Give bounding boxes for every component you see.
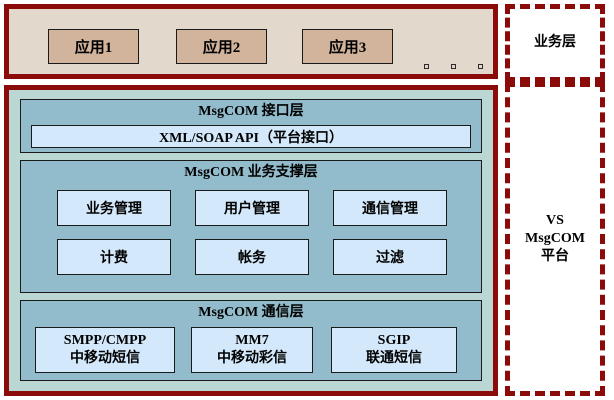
msgcom-business-support-layer: MsgCOM 业务支撑层 业务管理 用户管理 通信管理 计费 帐务 过滤: [20, 160, 482, 293]
comm-box-smpp-cmpp[interactable]: SMPP/CMPP 中移动短信: [35, 327, 175, 373]
comm-box-smpp-cmpp-description: 中移动短信: [70, 350, 140, 368]
application-box-1[interactable]: 应用1: [48, 29, 139, 64]
comm-box-smpp-cmpp-protocol: SMPP/CMPP: [64, 332, 146, 350]
ellipsis-dot-2: [451, 64, 456, 69]
support-box-business-management[interactable]: 业务管理: [57, 190, 171, 226]
platform-annotation-line-1: VS: [525, 212, 585, 230]
msgcom-communication-layer-title: MsgCOM 通信层: [21, 301, 481, 323]
support-box-filtering[interactable]: 过滤: [333, 239, 447, 275]
business-layer-annotation-label: 业务层: [534, 34, 576, 52]
msgcom-interface-layer: MsgCOM 接口层 XML/SOAP API（平台接口）: [20, 99, 482, 153]
ellipsis-dot-1: [424, 64, 429, 69]
application-box-1-label: 应用1: [75, 36, 113, 57]
support-box-user-management-label: 用户管理: [224, 198, 280, 218]
comm-box-sgip[interactable]: SGIP 联通短信: [331, 327, 457, 373]
support-box-billing[interactable]: 计费: [57, 239, 171, 275]
xml-soap-api-label: XML/SOAP API（平台接口）: [159, 127, 343, 147]
platform-annotation-box: VS MsgCOM 平台: [505, 82, 605, 396]
platform-annotation-line-2: MsgCOM: [525, 230, 585, 248]
support-box-filtering-label: 过滤: [376, 247, 404, 267]
comm-box-sgip-description: 联通短信: [366, 350, 422, 368]
support-box-communication-management[interactable]: 通信管理: [333, 190, 447, 226]
comm-box-mm7-protocol: MM7: [235, 332, 268, 350]
support-box-user-management[interactable]: 用户管理: [195, 190, 309, 226]
comm-box-mm7-description: 中移动彩信: [217, 350, 287, 368]
business-layer-section: 应用1 应用2 应用3: [4, 4, 498, 79]
ellipsis-dot-3: [478, 64, 483, 69]
application-box-3[interactable]: 应用3: [302, 29, 393, 64]
xml-soap-api-box[interactable]: XML/SOAP API（平台接口）: [31, 125, 471, 148]
msgcom-business-support-layer-title: MsgCOM 业务支撑层: [21, 161, 481, 183]
comm-box-sgip-protocol: SGIP: [378, 332, 411, 350]
platform-annotation-label: VS MsgCOM 平台: [525, 212, 585, 266]
support-box-accounting-label: 帐务: [238, 247, 266, 267]
application-box-2-label: 应用2: [203, 36, 241, 57]
application-box-2[interactable]: 应用2: [176, 29, 267, 64]
support-box-billing-label: 计费: [100, 247, 128, 267]
support-box-communication-management-label: 通信管理: [362, 198, 418, 218]
application-box-3-label: 应用3: [329, 36, 367, 57]
comm-box-mm7[interactable]: MM7 中移动彩信: [191, 327, 313, 373]
architecture-diagram: 应用1 应用2 应用3 MsgCOM 接口层 XML/SOAP API（平台接口…: [0, 0, 614, 400]
platform-section: MsgCOM 接口层 XML/SOAP API（平台接口） MsgCOM 业务支…: [4, 85, 498, 396]
platform-annotation-line-3: 平台: [525, 248, 585, 266]
support-box-accounting[interactable]: 帐务: [195, 239, 309, 275]
support-box-business-management-label: 业务管理: [86, 198, 142, 218]
msgcom-interface-layer-title: MsgCOM 接口层: [21, 100, 481, 122]
business-layer-annotation-box: 业务层: [505, 4, 605, 82]
msgcom-communication-layer: MsgCOM 通信层 SMPP/CMPP 中移动短信 MM7 中移动彩信 SGI…: [20, 300, 482, 381]
